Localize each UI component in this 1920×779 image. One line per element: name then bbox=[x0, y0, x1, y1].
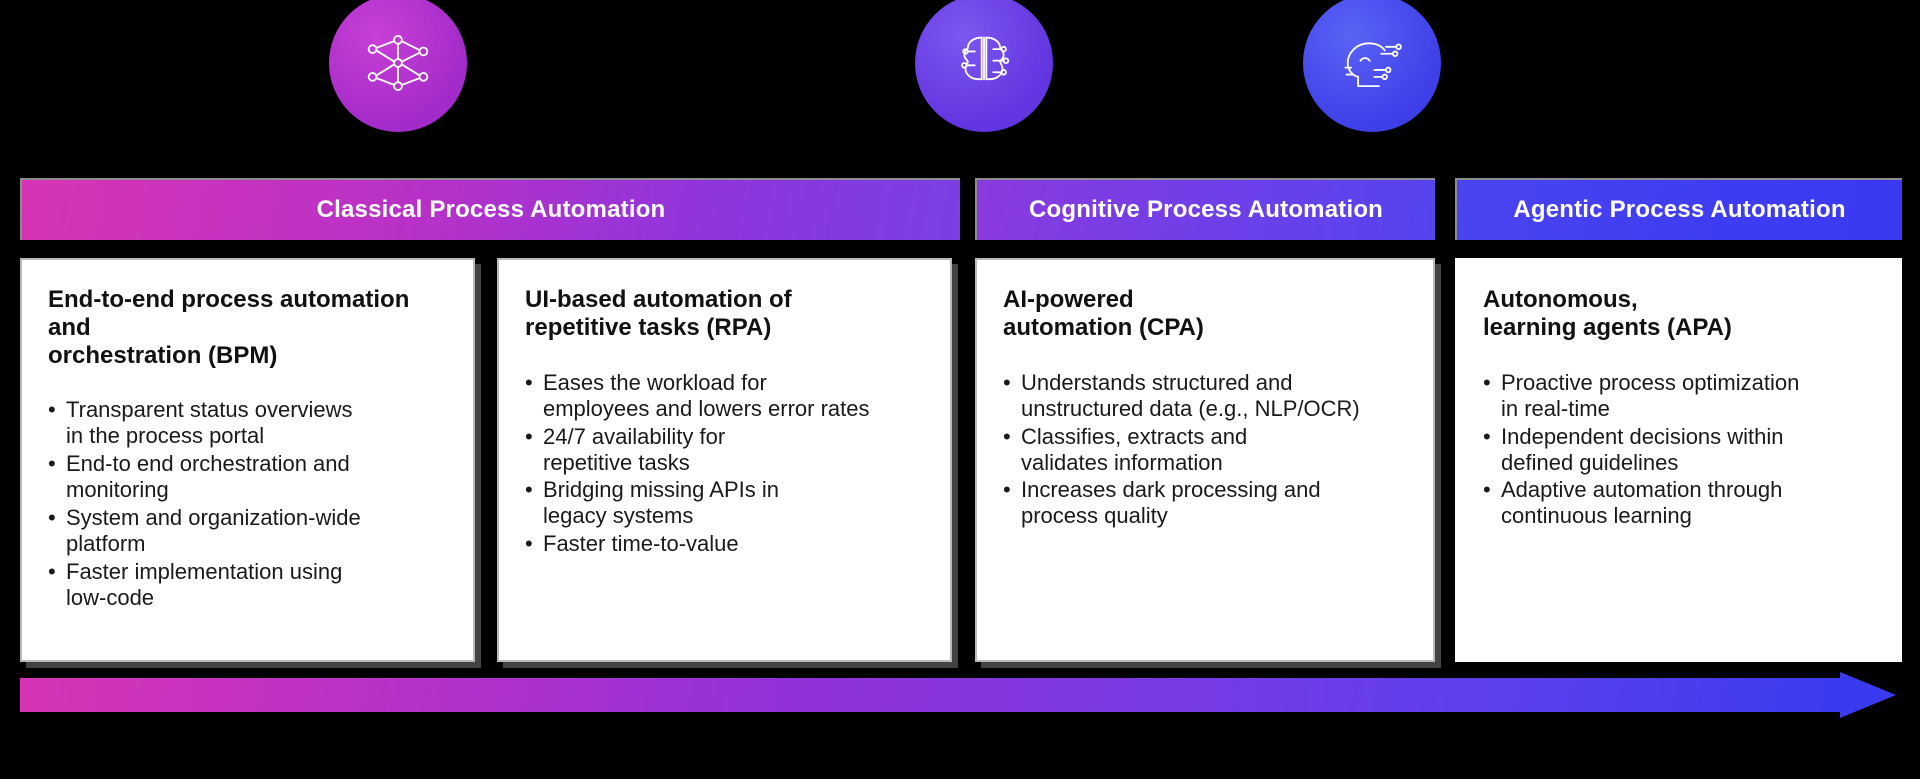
ai-head-profile-icon bbox=[1303, 0, 1441, 132]
stage-header-classical: Classical Process Automation bbox=[20, 178, 960, 240]
list-item: Faster time-to-value bbox=[525, 531, 924, 557]
stage-header-label: Cognitive Process Automation bbox=[1029, 196, 1383, 224]
list-item: Adaptive automation through continuous l… bbox=[1483, 477, 1874, 529]
stage-header-agentic: Agentic Process Automation bbox=[1455, 178, 1902, 240]
list-item: Understands structured and unstructured … bbox=[1003, 370, 1407, 422]
stage-header-label: Classical Process Automation bbox=[317, 196, 666, 224]
list-item: System and organization-wide platform bbox=[48, 505, 447, 557]
list-item: Eases the workload for employees and low… bbox=[525, 370, 924, 422]
list-item: Proactive process optimization in real-t… bbox=[1483, 370, 1874, 422]
card-bullet-list: Transparent status overviews in the proc… bbox=[48, 397, 447, 611]
list-item: Increases dark processing and process qu… bbox=[1003, 477, 1407, 529]
card-title: End-to-end process automation and orches… bbox=[48, 286, 447, 369]
card-cpa: AI-powered automation (CPA) Understands … bbox=[975, 258, 1435, 662]
stage-header-cognitive: Cognitive Process Automation bbox=[975, 178, 1435, 240]
list-item: Transparent status overviews in the proc… bbox=[48, 397, 447, 449]
list-item: Independent decisions within defined gui… bbox=[1483, 424, 1874, 476]
card-title: AI-powered automation (CPA) bbox=[1003, 286, 1407, 342]
card-bullet-list: Eases the workload for employees and low… bbox=[525, 370, 924, 558]
arrow-body bbox=[20, 678, 1848, 712]
list-item: Classifies, extracts and validates infor… bbox=[1003, 424, 1407, 476]
card-rpa: UI-based automation of repetitive tasks … bbox=[497, 258, 952, 662]
list-item: 24/7 availability for repetitive tasks bbox=[525, 424, 924, 476]
card-title: UI-based automation of repetitive tasks … bbox=[525, 286, 924, 342]
card-bullet-list: Proactive process optimization in real-t… bbox=[1483, 370, 1874, 530]
automation-maturity-diagram: Classical Process Automation Cognitive P… bbox=[0, 0, 1920, 779]
arrow-head bbox=[1840, 672, 1896, 718]
card-apa: Autonomous, learning agents (APA) Proact… bbox=[1455, 258, 1902, 662]
list-item: Bridging missing APIs in legacy systems bbox=[525, 477, 924, 529]
card-bullet-list: Understands structured and unstructured … bbox=[1003, 370, 1407, 530]
list-item: Faster implementation using low-code bbox=[48, 559, 447, 611]
list-item: End-to end orchestration and monitoring bbox=[48, 451, 447, 503]
stage-header-label: Agentic Process Automation bbox=[1513, 196, 1845, 224]
brain-circuit-icon bbox=[915, 0, 1053, 132]
neural-network-icon bbox=[329, 0, 467, 132]
maturity-progression-arrow bbox=[20, 672, 1902, 718]
card-title: Autonomous, learning agents (APA) bbox=[1483, 286, 1874, 342]
card-bpm: End-to-end process automation and orches… bbox=[20, 258, 475, 662]
